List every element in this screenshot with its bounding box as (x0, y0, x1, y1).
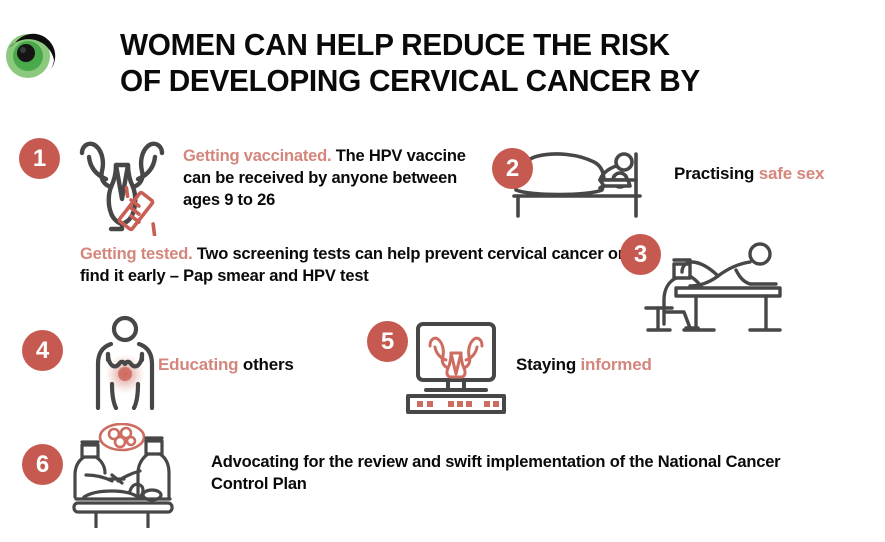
item-text-5: Staying informed (516, 354, 716, 377)
item-body-4: others (238, 355, 293, 374)
page-title: WOMEN CAN HELP REDUCE THE RISK OF DEVELO… (120, 27, 830, 99)
item-text-6: Advocating for the review and swift impl… (211, 452, 781, 496)
title-line-2: OF DEVELOPING CERVICAL CANCER BY (120, 63, 830, 99)
title-line-1: WOMEN CAN HELP REDUCE THE RISK (120, 27, 830, 63)
eye-logo-icon (2, 22, 64, 84)
item-number-badge-2: 2 (492, 148, 533, 189)
doctor-examining-patient-icon (640, 228, 790, 336)
item-number-badge-3: 3 (620, 234, 661, 275)
item-text-1: Getting vaccinated. The HPV vaccine can … (183, 146, 471, 212)
uterus-syringe-icon (66, 133, 184, 236)
item-text-3: Getting tested. Two screening tests can … (80, 244, 628, 288)
monitor-uterus-icon (404, 320, 508, 414)
item-number-badge-4: 4 (22, 330, 63, 371)
item-body-2: Practising (674, 164, 759, 183)
surgeons-operating-icon (66, 423, 178, 528)
item-body-5: Staying (516, 355, 581, 374)
item-body-6: Advocating for the review and swift impl… (211, 453, 780, 493)
item-highlight-2: safe sex (759, 164, 825, 183)
item-highlight-4: Educating (158, 355, 238, 374)
item-number-badge-1: 1 (19, 138, 60, 179)
item-highlight-1: Getting vaccinated. (183, 147, 331, 165)
female-torso-icon (86, 314, 164, 410)
item-number-badge-5: 5 (367, 321, 408, 362)
item-text-2: Practising safe sex (674, 163, 874, 186)
item-highlight-3: Getting tested. (80, 245, 193, 263)
item-number-badge-6: 6 (22, 444, 63, 485)
item-highlight-5: informed (581, 355, 652, 374)
item-text-4: Educating others (158, 354, 343, 377)
